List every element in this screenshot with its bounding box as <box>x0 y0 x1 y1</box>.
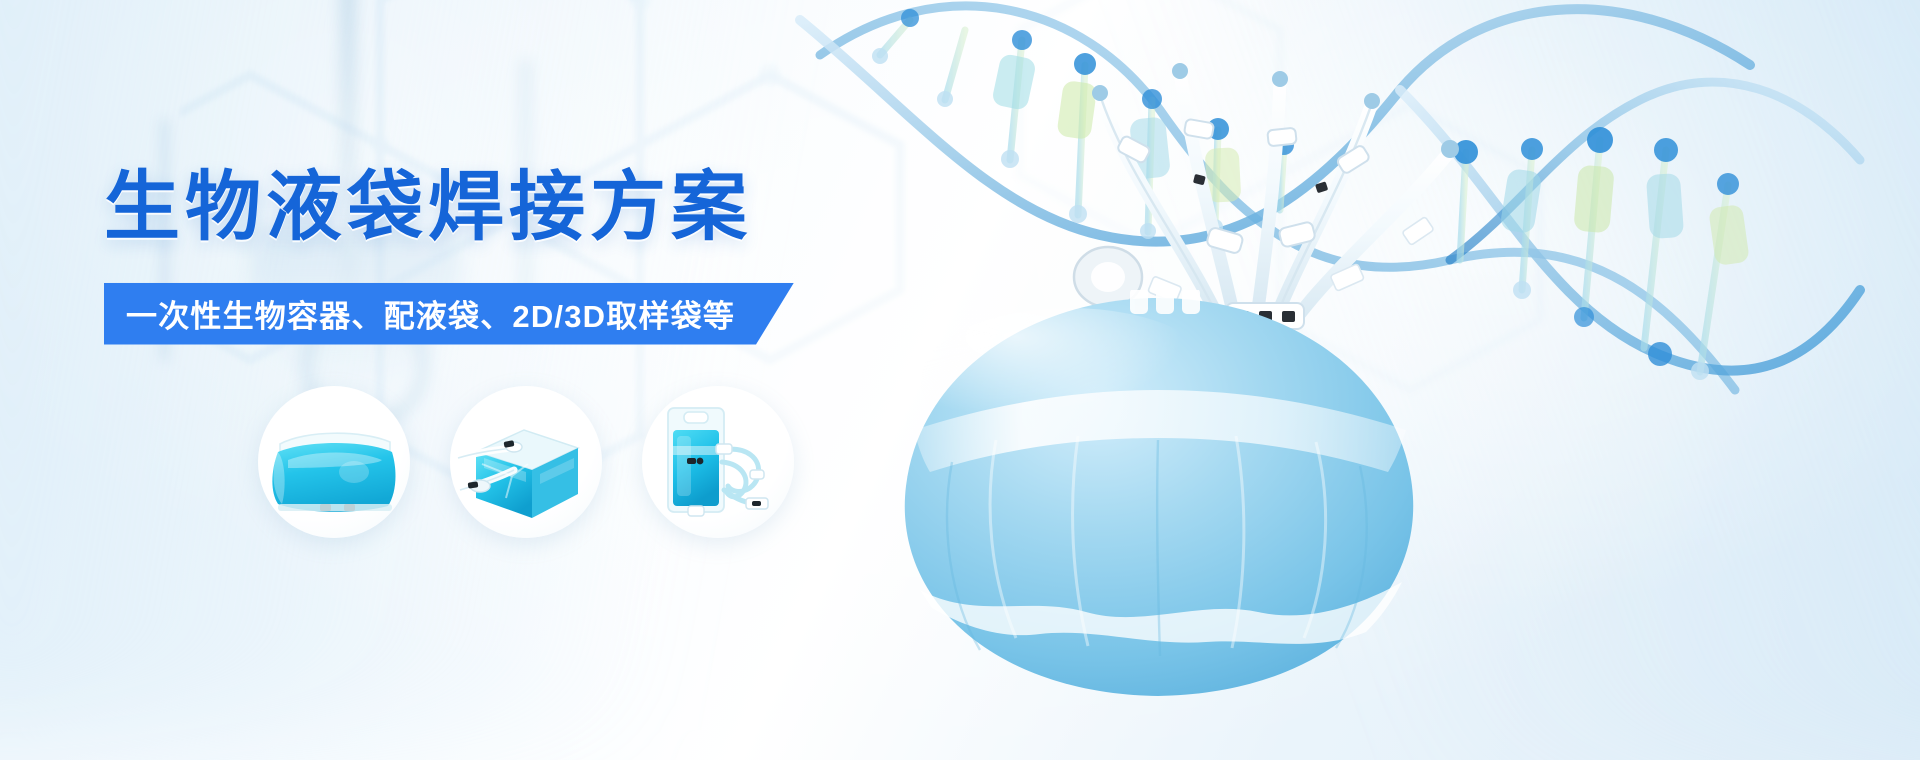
page-title: 生物液袋焊接方案 <box>104 168 944 249</box>
product-hero-banner: 生物液袋焊接方案 一次性生物容器、配液袋、2D/3D取样袋等 <box>0 0 1920 760</box>
bioreactor-bag-graphic <box>880 290 1440 710</box>
product-thumbnail-3d-bag[interactable] <box>450 386 602 538</box>
pillow-bag-icon <box>258 386 410 538</box>
subtitle-text: 一次性生物容器、配液袋、2D/3D取样袋等 <box>126 283 735 345</box>
cube-bag-icon <box>450 386 602 538</box>
product-thumbnail-sampling-bag[interactable] <box>642 386 794 538</box>
product-thumbnail-2d-bag[interactable] <box>258 386 410 538</box>
product-thumbnail-row <box>258 386 818 556</box>
sampling-bag-icon <box>642 386 794 538</box>
subtitle-banner: 一次性生物容器、配液袋、2D/3D取样袋等 <box>104 283 804 347</box>
banner-copy: 生物液袋焊接方案 一次性生物容器、配液袋、2D/3D取样袋等 <box>104 168 944 347</box>
